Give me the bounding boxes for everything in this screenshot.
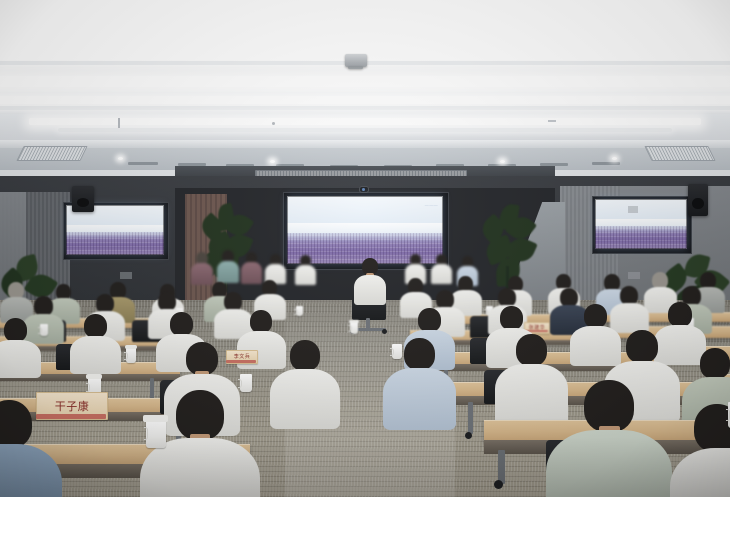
tea-cup — [240, 374, 252, 392]
desk-leg — [468, 402, 473, 434]
caster — [465, 432, 472, 439]
left-led-panel[interactable] — [66, 205, 164, 255]
cup-lid — [125, 345, 137, 349]
downlight-4 — [612, 157, 617, 160]
wall-speaker-right — [688, 184, 708, 216]
name-card-stripe — [226, 360, 256, 363]
downlight-1 — [118, 157, 123, 160]
main-led-wall[interactable]: ——— — [287, 196, 443, 264]
slot-vent-1 — [128, 162, 158, 165]
ceiling-sensor-left — [118, 118, 120, 128]
main-screen-bezel — [287, 196, 443, 264]
tea-cup — [40, 324, 48, 336]
ceiling-sensor-mid — [272, 122, 275, 125]
tea-cup — [296, 306, 303, 316]
ceiling-sensor-right — [548, 120, 556, 122]
right-screen-bezel — [595, 199, 687, 249]
conference-room-photograph: ——— — [0, 0, 730, 497]
white-margin — [0, 497, 730, 548]
light-strip-4 — [0, 96, 730, 104]
caster — [494, 480, 503, 489]
light-strip-5 — [0, 106, 730, 110]
tea-cup — [350, 322, 358, 334]
cup-lid — [143, 415, 168, 422]
caster — [382, 329, 387, 334]
desk-leg — [498, 450, 505, 484]
cup-lid — [86, 374, 102, 379]
light-strip-7 — [58, 128, 671, 132]
tea-cup — [146, 420, 166, 448]
light-strip-3 — [0, 78, 730, 87]
wall-plaque-right — [628, 206, 638, 213]
downlight-3 — [500, 160, 505, 163]
wall-speaker-left — [72, 186, 94, 212]
conference-camera-icon — [359, 186, 369, 193]
cup-lid — [349, 320, 359, 323]
wall-plaque-left-lower — [120, 272, 132, 279]
air-vent-left — [16, 146, 87, 161]
light-strip-6 — [29, 118, 701, 125]
left-screen-bezel — [66, 205, 164, 255]
wall-plaque-right-lower — [628, 272, 640, 279]
tea-cup — [126, 348, 136, 363]
ceiling-plane-upper — [0, 0, 730, 60]
slot-vent-10 — [592, 162, 620, 165]
soffit-edge — [0, 140, 730, 148]
tea-cup — [392, 344, 402, 359]
name-card-stripe — [36, 414, 106, 419]
downlight-2 — [270, 160, 275, 163]
right-led-panel[interactable] — [595, 199, 687, 249]
ceiling — [0, 0, 730, 186]
air-vent-right — [644, 146, 715, 161]
plant-right — [478, 204, 536, 296]
projector-mount — [348, 66, 363, 69]
